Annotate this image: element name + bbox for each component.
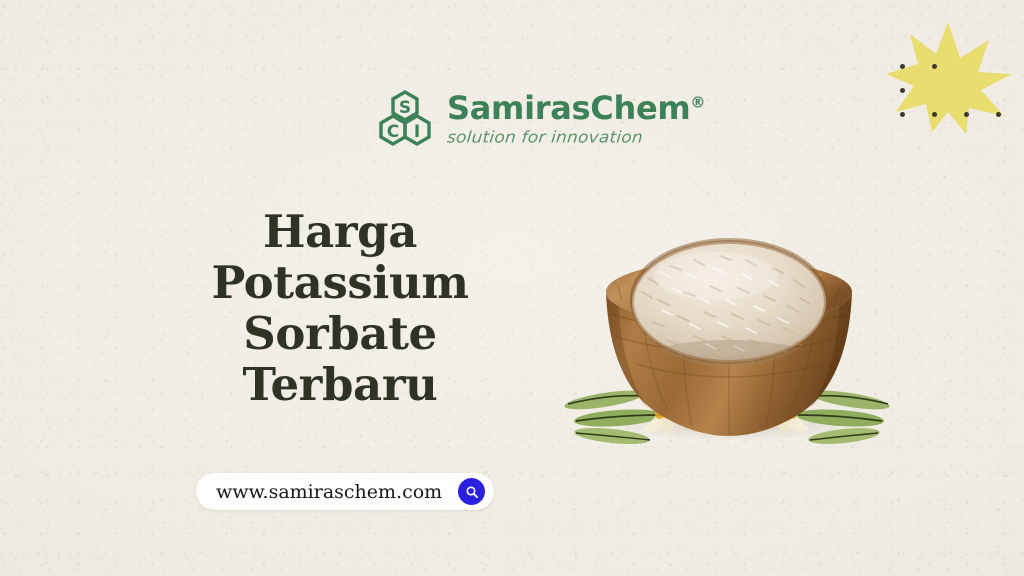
dot-grid-decoration [896,58,1006,124]
brand-tagline: solution for innovation [446,130,705,146]
search-button[interactable] [458,478,485,505]
svg-text:I: I [414,122,420,142]
page-title: Harga Potassium Sorbate Terbaru [182,207,498,410]
website-url-bar[interactable]: www.samiraschem.com [196,473,494,510]
title-line-4: Terbaru [182,360,498,411]
search-icon [464,484,480,500]
brand-name: SamirasChem® [447,92,705,124]
svg-text:S: S [399,98,411,118]
product-image-rice-bowl [562,196,902,458]
title-line-1: Harga [182,207,498,258]
svg-text:C: C [387,122,399,142]
registered-trademark-symbol: ® [690,93,705,111]
sci-hexagon-logo-icon: S C I [374,88,436,150]
brand-logo[interactable]: S C I SamirasChem® solution for innovati… [374,88,705,150]
wooden-bowl-icon [596,218,862,440]
website-url-text: www.samiraschem.com [216,481,448,503]
title-line-3: Sorbate [182,309,498,360]
poster-canvas: S C I SamirasChem® solution for innovati… [0,0,1024,576]
title-line-2: Potassium [182,258,498,309]
